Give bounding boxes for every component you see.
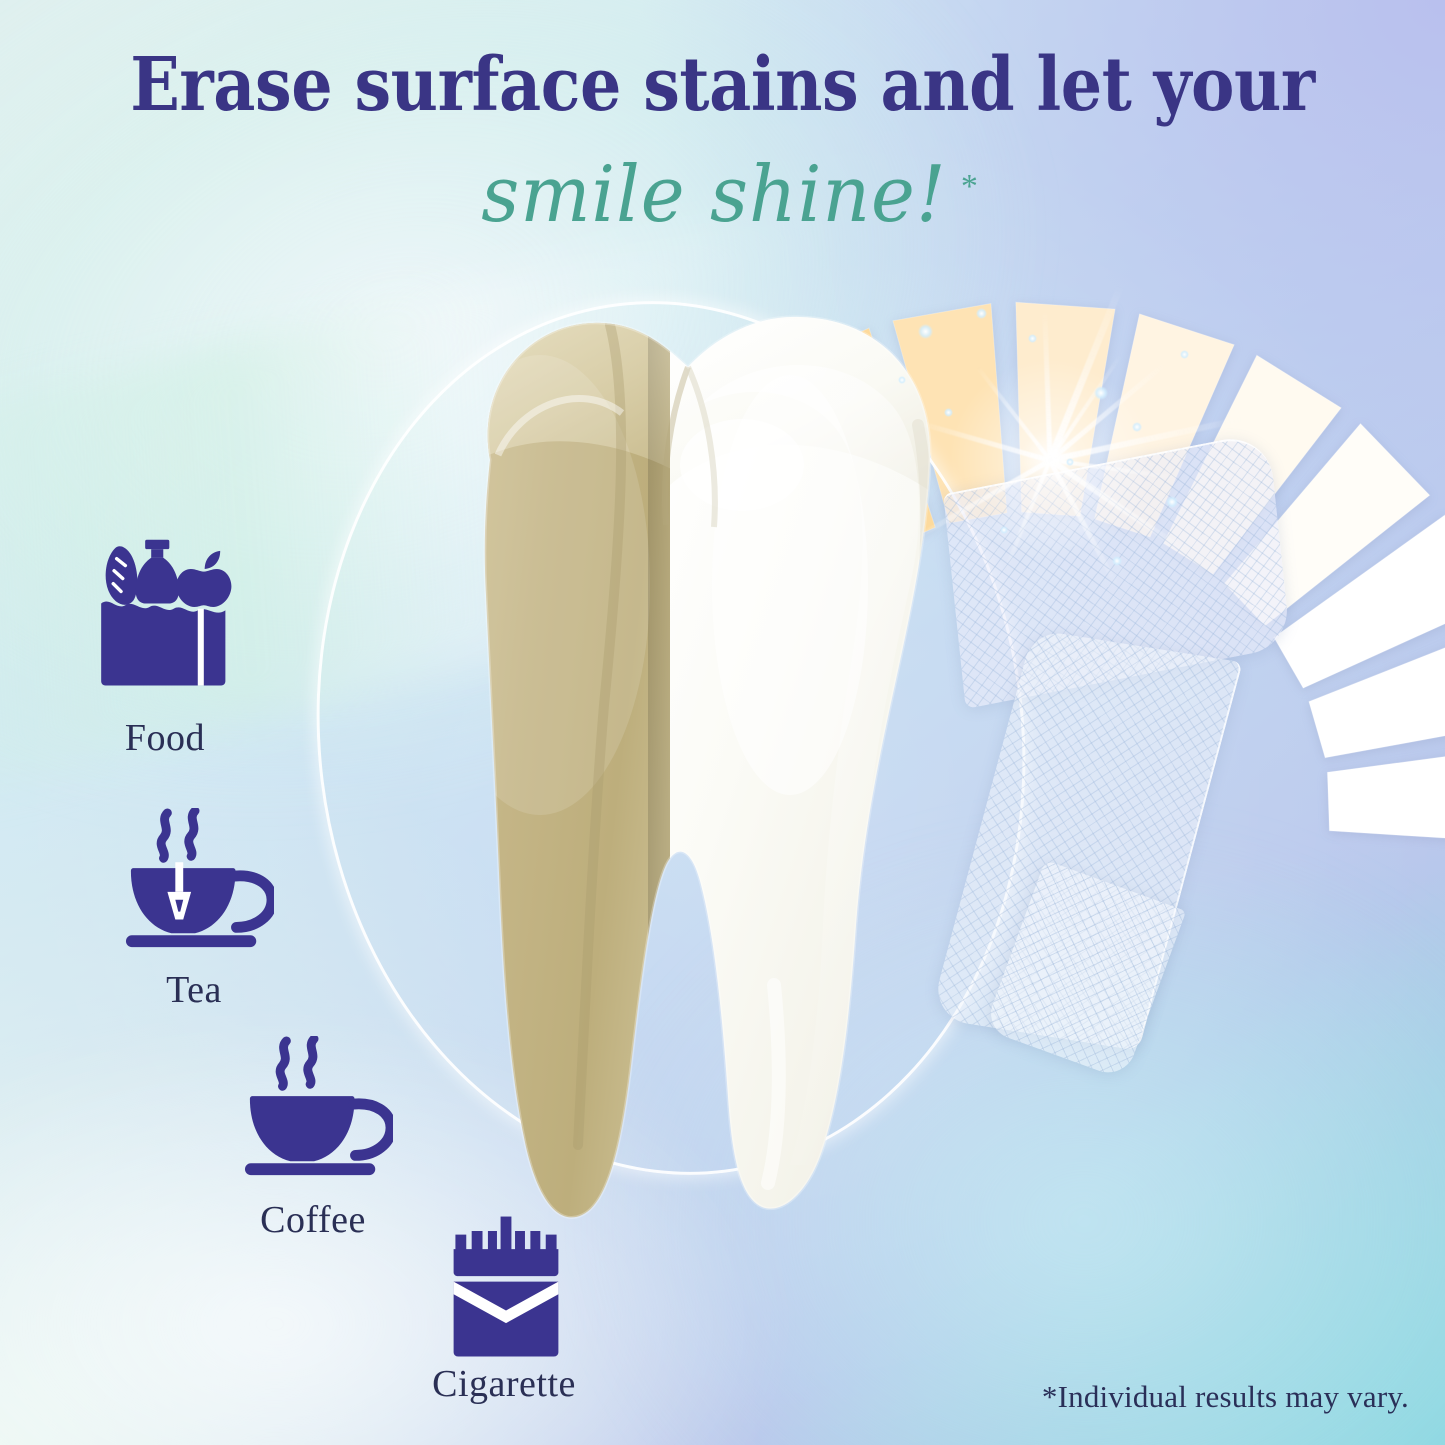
disclaimer-text: *Individual results may vary. xyxy=(1042,1379,1409,1415)
coffee-cup-icon xyxy=(243,1036,393,1180)
stain-source-food[interactable] xyxy=(96,536,234,695)
grocery-bag-icon xyxy=(96,536,234,695)
grocery-bag-icon xyxy=(96,536,234,690)
stain-source-label: Tea xyxy=(64,968,324,1012)
tooth-illustration xyxy=(370,285,1050,1245)
page-subtitle-text: smile shine! xyxy=(481,150,946,240)
page-subtitle: smile shine!* xyxy=(0,150,1445,240)
stain-source-cigarette[interactable] xyxy=(450,1216,562,1363)
teacup-icon xyxy=(124,808,274,952)
asterisk-marker: * xyxy=(961,168,978,205)
cigarette-pack-icon xyxy=(450,1216,562,1363)
tooth-svg xyxy=(370,285,1050,1245)
shade-guide-tile xyxy=(1327,745,1445,845)
page-title: Erase surface stains and let your xyxy=(87,48,1359,123)
stain-source-tea[interactable] xyxy=(124,808,274,957)
teacup-icon xyxy=(124,808,274,957)
coffee-cup-icon xyxy=(243,1036,393,1185)
cigarette-pack-icon xyxy=(450,1216,562,1358)
stain-source-coffee[interactable] xyxy=(243,1036,393,1185)
promo-image: Erase surface stains and let your smile … xyxy=(0,0,1445,1445)
stain-source-label: Cigarette xyxy=(390,1362,618,1406)
stain-source-label: Food xyxy=(36,716,294,760)
stain-source-label: Coffee xyxy=(183,1198,443,1242)
